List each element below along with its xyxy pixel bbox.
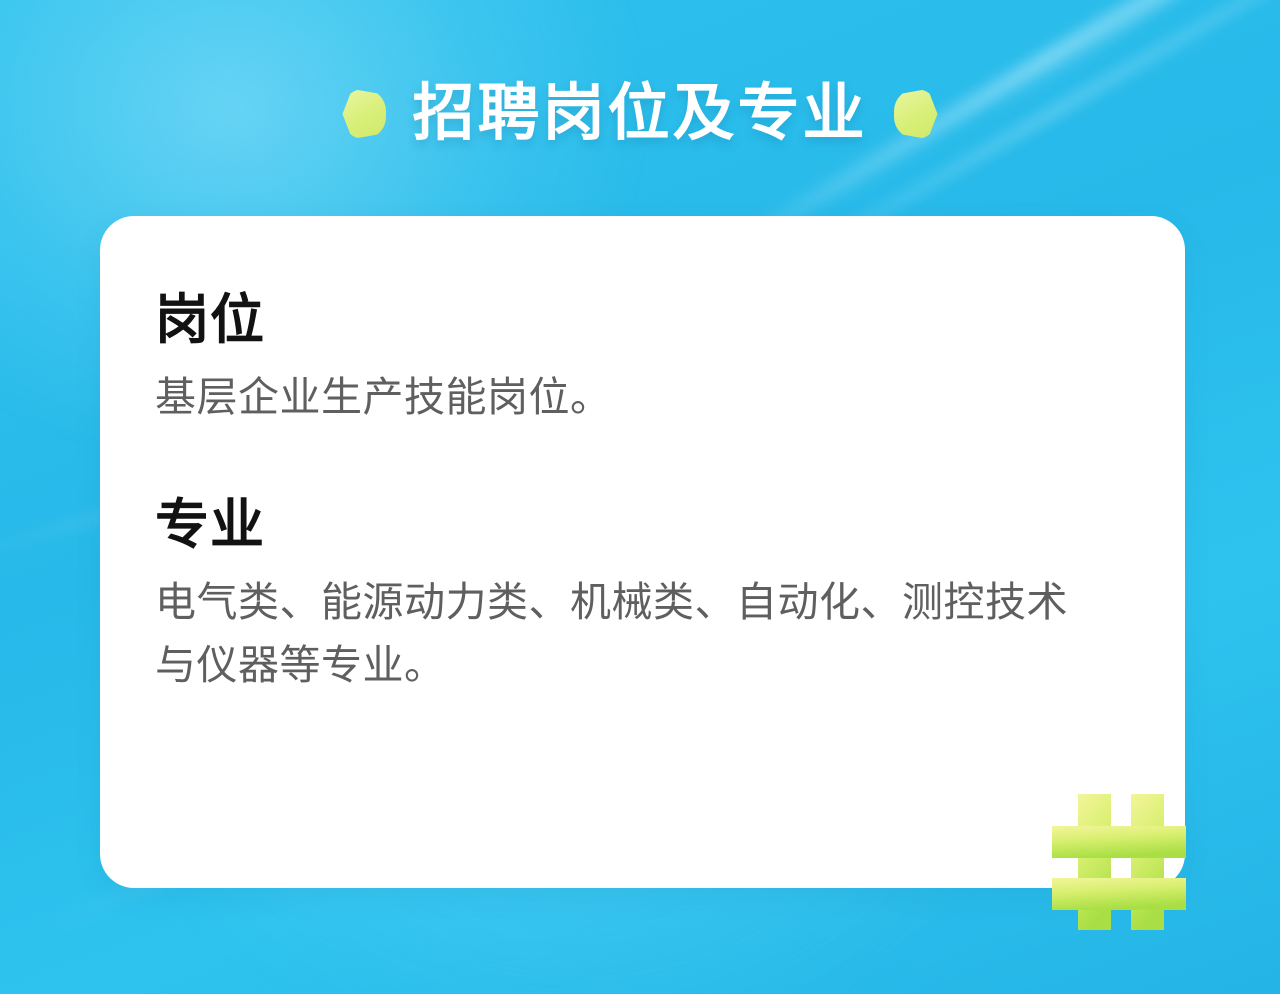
hash-icon <box>1048 786 1190 930</box>
content-card: 岗位 基层企业生产技能岗位。 专业 电气类、能源动力类、机械类、自动化、测控技术… <box>100 216 1185 888</box>
leaf-blob-right-icon <box>894 89 938 139</box>
section-position-heading: 岗位 <box>155 290 1145 350</box>
section-position: 岗位 基层企业生产技能岗位。 <box>155 290 1145 429</box>
leaf-blob-left-icon <box>342 89 386 139</box>
content-card-body: 岗位 基层企业生产技能岗位。 专业 电气类、能源动力类、机械类、自动化、测控技术… <box>155 290 1145 696</box>
section-major-heading: 专业 <box>155 495 1145 555</box>
poster-canvas: 招聘岗位及专业 岗位 基层企业生产技能岗位。 专业 电气类、能源动力类、机械类、… <box>0 0 1280 994</box>
section-position-text: 基层企业生产技能岗位。 <box>155 366 1095 428</box>
section-major-text: 电气类、能源动力类、机械类、自动化、测控技术与仪器等专业。 <box>155 571 1095 696</box>
page-header: 招聘岗位及专业 <box>0 62 1280 166</box>
page-title: 招聘岗位及专业 <box>412 83 867 145</box>
section-major: 专业 电气类、能源动力类、机械类、自动化、测控技术与仪器等专业。 <box>155 495 1145 696</box>
